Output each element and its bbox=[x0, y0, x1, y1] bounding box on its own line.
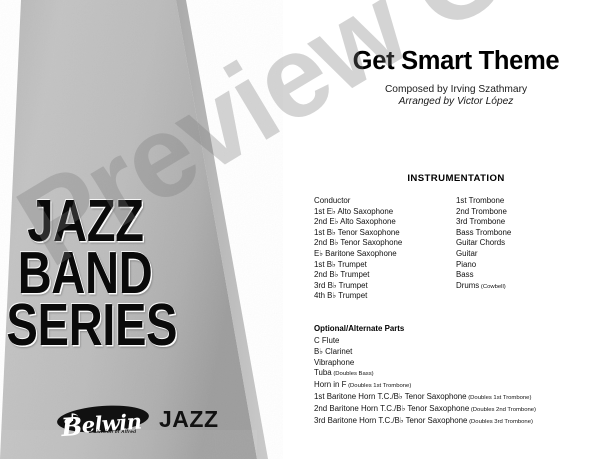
instrument-name: 3rd Trombone bbox=[456, 217, 505, 226]
instrument-name: Conductor bbox=[314, 196, 350, 205]
instrument-name: Bass Trombone bbox=[456, 228, 511, 237]
series-wordmark: JAZZ BAND SERIES bbox=[0, 196, 250, 352]
instrument-name: 1st B♭ Tenor Saxophone bbox=[314, 228, 400, 237]
instrument-item: 3rd B♭ Trumpet bbox=[314, 281, 464, 292]
instrument-item: C Flute bbox=[314, 336, 604, 347]
belwin-tagline: a division of Alfred bbox=[89, 429, 136, 434]
instrument-name: 2nd E♭ Alto Saxophone bbox=[314, 217, 396, 226]
instrument-item: 2nd Baritone Horn T.C./B♭ Tenor Saxophon… bbox=[314, 404, 604, 416]
instrument-item: Guitar bbox=[456, 249, 606, 260]
instrument-item: 1st Trombone bbox=[456, 196, 606, 207]
instrument-name: Bass bbox=[456, 270, 474, 279]
instrument-item: B♭ Clarinet bbox=[314, 347, 604, 358]
series-line-series: SERIES bbox=[0, 300, 200, 352]
instrument-item: Horn in F (Doubles 1st Trombone) bbox=[314, 380, 604, 392]
instrument-item: E♭ Baritone Saxophone bbox=[314, 249, 464, 260]
instrument-name: Guitar Chords bbox=[456, 238, 505, 247]
sheet-music-cover-page: JAZZ BAND SERIES Belwin a division of Al… bbox=[0, 0, 612, 459]
instrument-name: 1st E♭ Alto Saxophone bbox=[314, 207, 393, 216]
belwin-jazz-logo: Belwin a division of Alfred JAZZ bbox=[57, 404, 219, 437]
instrument-note: (Doubles 1st Trombone) bbox=[346, 383, 411, 389]
instrument-item: Drums (Cowbell) bbox=[456, 281, 606, 293]
instrument-name: 2nd B♭ Tenor Saxophone bbox=[314, 238, 402, 247]
instrument-name: 4th B♭ Trumpet bbox=[314, 291, 367, 300]
instrument-item: Piano bbox=[456, 260, 606, 271]
cover-text-column: Get Smart Theme Composed by Irving Szath… bbox=[300, 0, 612, 459]
instrument-name: B♭ Clarinet bbox=[314, 347, 352, 356]
optional-parts-header: Optional/Alternate Parts bbox=[314, 324, 404, 333]
instrumentation-header: INSTRUMENTATION bbox=[310, 173, 602, 184]
instrument-name: 1st Baritone Horn T.C./B♭ Tenor Saxophon… bbox=[314, 392, 467, 401]
instrument-name: 3rd Baritone Horn T.C./B♭ Tenor Saxophon… bbox=[314, 416, 467, 425]
instrument-name: 3rd B♭ Trumpet bbox=[314, 281, 368, 290]
instrument-name: Drums bbox=[456, 281, 479, 290]
instrument-name: 1st B♭ Trumpet bbox=[314, 260, 367, 269]
belwin-brand-mark: Belwin a division of Alfred bbox=[57, 404, 175, 437]
instrument-note: (Doubles 3rd Trombone) bbox=[467, 419, 532, 425]
music-note-icon bbox=[64, 413, 79, 424]
instrument-name: C Flute bbox=[314, 336, 339, 345]
instrument-item: Tuba (Doubles Bass) bbox=[314, 368, 604, 380]
optional-parts-list: C FluteB♭ ClarinetVibraphoneTuba (Double… bbox=[314, 336, 604, 427]
instrument-item: 1st E♭ Alto Saxophone bbox=[314, 207, 464, 218]
instrument-item: 3rd Trombone bbox=[456, 217, 606, 228]
instrument-name: Guitar bbox=[456, 249, 478, 258]
instrument-note: (Cowbell) bbox=[479, 284, 506, 290]
instrument-item: 3rd Baritone Horn T.C./B♭ Tenor Saxophon… bbox=[314, 416, 604, 428]
instrument-name: 1st Trombone bbox=[456, 196, 504, 205]
instrument-name: E♭ Baritone Saxophone bbox=[314, 249, 397, 258]
instrument-name: 2nd B♭ Trumpet bbox=[314, 270, 369, 279]
instrument-item: 2nd B♭ Trumpet bbox=[314, 270, 464, 281]
composer-credit: Composed by Irving Szathmary bbox=[310, 84, 602, 95]
instrument-name: Tuba bbox=[314, 368, 332, 377]
arranger-credit: Arranged by Victor López bbox=[310, 96, 602, 107]
instrumentation-right-column: 1st Trombone2nd Trombone3rd TromboneBass… bbox=[456, 196, 606, 292]
instrumentation-left-column: Conductor1st E♭ Alto Saxophone2nd E♭ Alt… bbox=[314, 196, 464, 302]
instrument-note: (Doubles 1st Trombone) bbox=[467, 395, 532, 401]
instrument-item: Guitar Chords bbox=[456, 238, 606, 249]
instrument-item: 2nd Trombone bbox=[456, 207, 606, 218]
instrument-item: 1st B♭ Trumpet bbox=[314, 260, 464, 271]
instrument-item: Vibraphone bbox=[314, 358, 604, 369]
instrument-item: Bass Trombone bbox=[456, 228, 606, 239]
instrument-name: 2nd Trombone bbox=[456, 207, 507, 216]
instrument-name: Horn in F bbox=[314, 380, 346, 389]
instrument-item: 1st Baritone Horn T.C./B♭ Tenor Saxophon… bbox=[314, 392, 604, 404]
instrument-note: (Doubles Bass) bbox=[332, 371, 374, 377]
instrument-item: 1st B♭ Tenor Saxophone bbox=[314, 228, 464, 239]
instrument-item: 2nd B♭ Tenor Saxophone bbox=[314, 238, 464, 249]
page-title: Get Smart Theme bbox=[310, 47, 602, 76]
instrument-item: 2nd E♭ Alto Saxophone bbox=[314, 217, 464, 228]
instrument-name: Piano bbox=[456, 260, 476, 269]
instrument-name: 2nd Baritone Horn T.C./B♭ Tenor Saxophon… bbox=[314, 404, 469, 413]
instrument-name: Vibraphone bbox=[314, 358, 354, 367]
instrument-item: Conductor bbox=[314, 196, 464, 207]
instrument-item: 4th B♭ Trumpet bbox=[314, 291, 464, 302]
instrument-note: (Doubles 2nd Trombone) bbox=[469, 407, 536, 413]
instrument-item: Bass bbox=[456, 270, 606, 281]
